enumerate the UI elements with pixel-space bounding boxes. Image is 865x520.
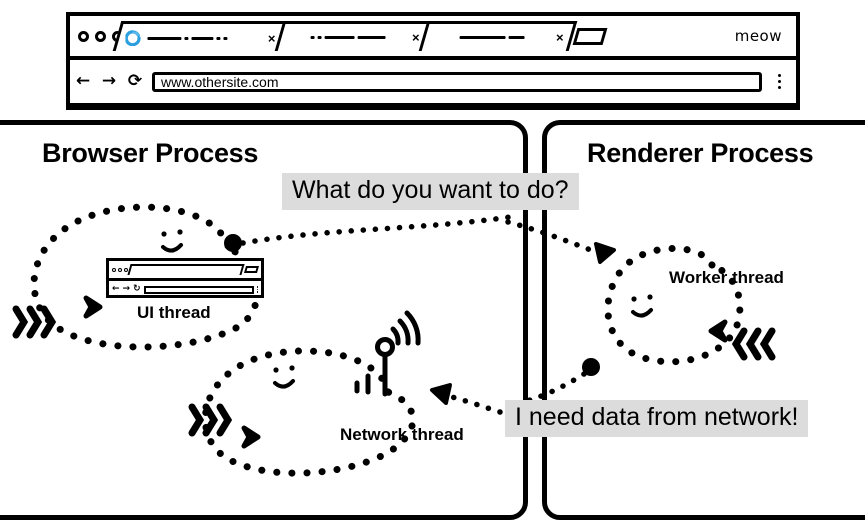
message-bubble-need-data: I need data from network!: [505, 400, 808, 437]
mini-menu-kebab-icon: [257, 286, 259, 293]
browser-tab-3[interactable]: ×: [419, 21, 578, 51]
mini-tab: [127, 264, 244, 275]
browser-tab-3-close-icon[interactable]: ×: [556, 31, 564, 44]
mini-address-bar: [144, 286, 254, 294]
browser-tab-3-title: [432, 36, 552, 39]
mini-forward-icon: →: [123, 285, 131, 294]
mini-new-tab-icon: [244, 266, 259, 273]
mini-window-controls-icon: [112, 268, 128, 272]
tab-strip: × ×: [70, 16, 796, 60]
ui-thread-label: UI thread: [137, 303, 211, 323]
renderer-process-title: Renderer Process: [587, 138, 813, 169]
worker-thread-label: Worker thread: [669, 268, 784, 288]
browser-tab-2-close-icon[interactable]: ×: [412, 31, 420, 44]
mini-browser-icon: ← → ↻: [106, 258, 264, 298]
diagram-canvas: × ×: [0, 0, 865, 504]
browser-window: × ×: [66, 12, 800, 110]
reload-icon[interactable]: ⟳: [122, 73, 148, 90]
close-icon[interactable]: [78, 31, 89, 42]
address-bar-value: www.othersite.com: [161, 74, 278, 90]
minimize-icon[interactable]: [95, 31, 106, 42]
address-bar[interactable]: www.othersite.com: [152, 72, 762, 92]
browser-tab-1-close-icon[interactable]: ×: [268, 31, 276, 44]
mini-browser-tabstrip: [109, 261, 261, 281]
browser-process-title: Browser Process: [42, 138, 258, 169]
browser-tab-2[interactable]: ×: [275, 21, 434, 51]
blue-spiral-favicon: [126, 30, 142, 46]
brand-label: meow: [735, 27, 782, 45]
mini-browser-toolbar: ← → ↻: [109, 281, 261, 298]
mini-reload-icon: ↻: [133, 285, 141, 294]
menu-kebab-icon[interactable]: [770, 74, 788, 89]
message-bubble-what-do-you-want: What do you want to do?: [282, 173, 579, 210]
new-tab-button[interactable]: [573, 28, 608, 45]
forward-icon[interactable]: →: [96, 73, 122, 90]
browser-tab-1-title: [148, 36, 264, 39]
renderer-process-box: [542, 120, 865, 520]
browser-tab-1[interactable]: ×: [113, 21, 290, 51]
browser-toolbar: ← → ⟳ www.othersite.com: [70, 60, 796, 106]
mini-back-icon: ←: [112, 285, 120, 294]
network-thread-label: Network thread: [340, 425, 464, 445]
back-icon[interactable]: ←: [70, 73, 96, 90]
browser-tab-2-title: [288, 36, 408, 39]
